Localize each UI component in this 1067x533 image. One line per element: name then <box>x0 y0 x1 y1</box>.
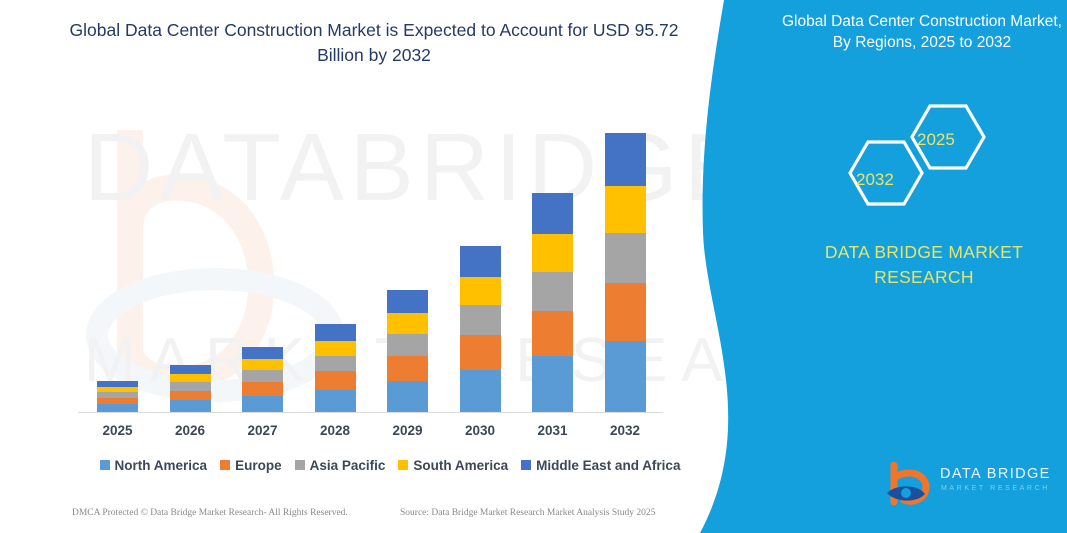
infographic-canvas: DATABRIDGE MARKET RESEARCH Global Data C… <box>0 0 1067 533</box>
bar-segment <box>532 234 573 271</box>
hexagon-2025-label: 2025 <box>917 130 955 150</box>
x-axis-label-2026: 2026 <box>155 423 225 438</box>
legend-label: Europe <box>235 458 282 473</box>
x-axis-label-2029: 2029 <box>373 423 443 438</box>
brand-name: DATA BRIDGE MARKET RESEARCH <box>790 240 1058 291</box>
bar-segment <box>387 356 428 381</box>
x-axis-labels: 20252026202720282029203020312032 <box>78 423 678 445</box>
bar-2031 <box>532 193 573 412</box>
legend-swatch <box>100 460 110 470</box>
bar-2027 <box>242 347 283 412</box>
bar-segment <box>532 356 573 412</box>
bar-segment <box>315 390 356 412</box>
legend-item[interactable]: Middle East and Africa <box>521 458 680 473</box>
bar-2025 <box>97 381 138 412</box>
legend-swatch <box>521 460 531 470</box>
chart-legend: North AmericaEuropeAsia PacificSouth Ame… <box>100 455 680 475</box>
bar-segment <box>605 186 646 233</box>
bar-2032 <box>605 133 646 412</box>
legend-label: Middle East and Africa <box>536 458 680 473</box>
legend-swatch <box>398 460 408 470</box>
footer-copyright: DMCA Protected © Data Bridge Market Rese… <box>72 508 348 518</box>
x-axis-label-2025: 2025 <box>83 423 153 438</box>
x-axis-label-2032: 2032 <box>590 423 660 438</box>
bar-segment <box>605 283 646 341</box>
bar-segment <box>605 341 646 412</box>
bar-segment <box>242 396 283 412</box>
bar-2026 <box>170 365 211 412</box>
legend-item[interactable]: South America <box>398 458 508 473</box>
bar-segment <box>315 356 356 372</box>
bar-segment <box>170 365 211 374</box>
x-axis-line <box>78 412 663 413</box>
bridge-mark-icon <box>884 462 936 506</box>
bar-segment <box>97 404 138 412</box>
legend-label: South America <box>413 458 508 473</box>
bar-segment <box>170 391 211 401</box>
bar-segment <box>532 311 573 356</box>
bar-segment <box>460 335 501 369</box>
hexagon-2032-label: 2032 <box>856 170 894 190</box>
chart-title: Global Data Center Construction Market i… <box>64 18 684 69</box>
panel-title: Global Data Center Construction Market, … <box>782 12 1062 54</box>
bar-segment <box>460 246 501 277</box>
bar-segment <box>315 341 356 356</box>
hexagon-group: 2032 2025 <box>820 92 1052 218</box>
logo-text-secondary: MARKET RESEARCH <box>941 485 1050 492</box>
bar-segment <box>170 374 211 382</box>
x-axis-label-2031: 2031 <box>518 423 588 438</box>
bar-segment <box>460 305 501 335</box>
bar-segment <box>605 233 646 283</box>
bar-segment <box>315 324 356 341</box>
x-axis-label-2027: 2027 <box>228 423 298 438</box>
bar-2029 <box>387 290 428 412</box>
company-logo: DATA BRIDGE MARKET RESEARCH <box>884 462 1060 508</box>
stacked-bar-chart <box>78 100 678 412</box>
bar-segment <box>387 381 428 412</box>
footer-source: Source: Data Bridge Market Research Mark… <box>400 508 655 518</box>
x-axis-label-2028: 2028 <box>300 423 370 438</box>
bar-segment <box>460 277 501 305</box>
bar-segment <box>387 313 428 334</box>
bar-segment <box>315 371 356 389</box>
bar-segment <box>170 382 211 391</box>
bar-segment <box>532 193 573 234</box>
bar-segment <box>170 400 211 412</box>
bar-segment <box>387 334 428 356</box>
legend-item[interactable]: Asia Pacific <box>295 458 386 473</box>
bar-segment <box>532 272 573 311</box>
bar-segment <box>242 370 283 382</box>
bar-2030 <box>460 246 501 412</box>
x-axis-label-2030: 2030 <box>445 423 515 438</box>
bar-segment <box>387 290 428 313</box>
legend-swatch <box>220 460 230 470</box>
bar-segment <box>242 382 283 396</box>
bar-segment <box>242 359 283 370</box>
legend-label: North America <box>115 458 208 473</box>
bar-2028 <box>315 324 356 412</box>
legend-item[interactable]: Europe <box>220 458 282 473</box>
legend-swatch <box>295 460 305 470</box>
legend-item[interactable]: North America <box>100 458 208 473</box>
logo-text-primary: DATA BRIDGE <box>940 466 1051 482</box>
bar-segment <box>605 133 646 186</box>
bar-segment <box>242 347 283 359</box>
legend-label: Asia Pacific <box>310 458 386 473</box>
bar-segment <box>460 370 501 412</box>
